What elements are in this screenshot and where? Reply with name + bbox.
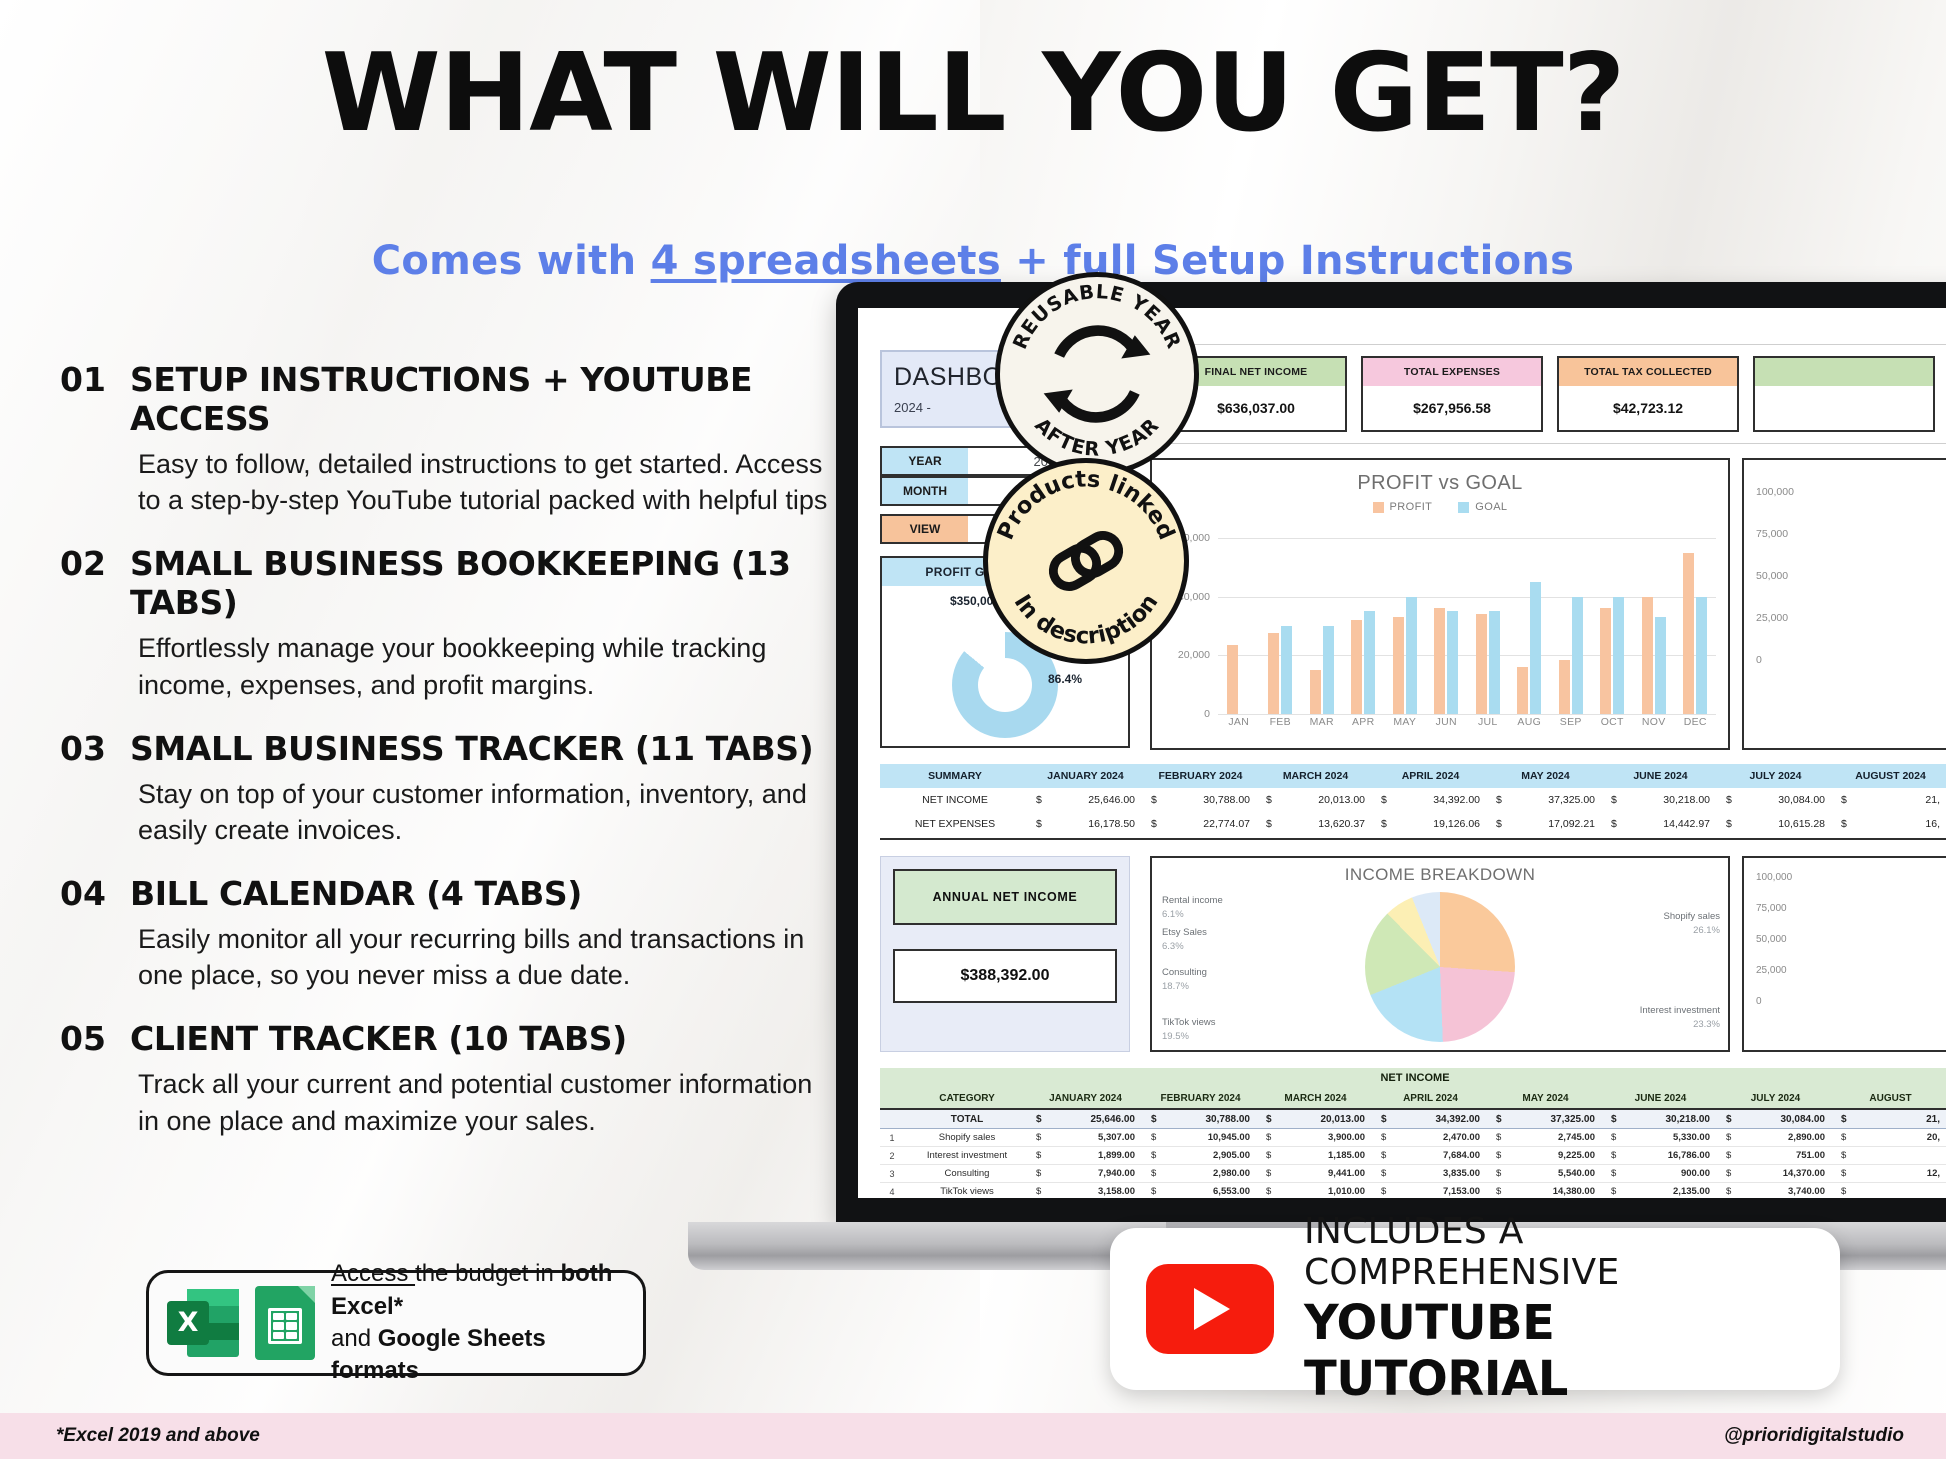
y-tick: 75,000 xyxy=(1756,528,1794,540)
chain-link-icon xyxy=(1048,530,1125,592)
formats-mid: the budget in xyxy=(415,1260,560,1287)
badge-reuse-top: REUSABLE YEAR xyxy=(1008,280,1186,352)
x-tick: FEB xyxy=(1260,716,1302,738)
y-axis-labels-secondary-2: 100,00075,00050,00025,0000 xyxy=(1756,872,1792,1027)
profit-vs-goal-chart: PROFIT vs GOAL PROFIT GOAL 020,00040,000… xyxy=(1150,458,1730,750)
products-linked-badge: Products linked In description xyxy=(983,458,1189,664)
cell: $13,620.37 xyxy=(1260,818,1375,830)
bar-goal xyxy=(1572,597,1583,714)
chart-gridlines xyxy=(1218,538,1716,714)
kpi-card-total-tax-collected: TOTAL TAX COLLECTED $42,723.12 xyxy=(1557,356,1739,432)
footer-band: *Excel 2019 and above @prioridigitalstud… xyxy=(0,1413,1946,1459)
col-header: APRIL 2024 xyxy=(1375,1093,1490,1104)
bar-series-container xyxy=(1218,538,1716,714)
table-row: 2 Interest investment $1,899.00 $2,905.0… xyxy=(880,1147,1946,1165)
feature-item-02: 02 SMALL BUSINESS BOOKKEEPING (13 TABS) … xyxy=(60,544,850,702)
page-title: WHAT WILL YOU GET? xyxy=(0,40,1946,148)
cell: $30,218.00 xyxy=(1605,794,1720,806)
pie-chart xyxy=(1365,892,1515,1042)
annual-net-income-panel: ANNUAL NET INCOME $388,392.00 xyxy=(880,856,1130,1052)
y-tick: 50,000 xyxy=(1756,570,1794,582)
pie-label-tiktok-views: TikTok views19.5% xyxy=(1162,1016,1312,1044)
y-tick: 0 xyxy=(1756,996,1792,1007)
y-tick: 100,000 xyxy=(1756,872,1792,883)
feature-number: 01 xyxy=(60,360,108,399)
income-breakdown-chart: INCOME BREAKDOWN Rental income6.1% Etsy … xyxy=(1150,856,1730,1052)
summary-col: MAY 2024 xyxy=(1490,770,1605,782)
cell: $14,442.97 xyxy=(1605,818,1720,830)
bar-goal xyxy=(1530,582,1541,714)
chart-title: PROFIT vs GOAL xyxy=(1152,472,1728,495)
youtube-play-icon xyxy=(1146,1264,1274,1354)
page-subtitle: Comes with 4 spreadsheets + full Setup I… xyxy=(0,238,1946,284)
reusable-year-after-year-badge: REUSABLE YEAR AFTER YEAR xyxy=(995,272,1199,476)
feature-number: 04 xyxy=(60,874,108,913)
cell: $16,178.50 xyxy=(1030,818,1145,830)
view-label: VIEW xyxy=(882,516,968,542)
feature-title: CLIENT TRACKER (10 TABS) xyxy=(130,1019,627,1058)
feature-body: Easy to follow, detailed instructions to… xyxy=(138,446,850,518)
summary-header-row: SUMMARY JANUARY 2024 FEBRUARY 2024 MARCH… xyxy=(880,764,1946,788)
cell: $25,646.00 xyxy=(1030,794,1145,806)
feature-body: Track all your current and potential cus… xyxy=(138,1066,850,1138)
x-tick: SEP xyxy=(1550,716,1592,738)
feature-line-2: income, expenses, and profit margins. xyxy=(138,667,850,703)
feature-item-04: 04 BILL CALENDAR (4 TABS) Easily monitor… xyxy=(60,874,850,993)
annual-net-income-value: $388,392.00 xyxy=(893,949,1117,1003)
col-header: JANUARY 2024 xyxy=(1030,1093,1145,1104)
col-header: JULY 2024 xyxy=(1720,1093,1835,1104)
bar-group xyxy=(1218,538,1260,714)
net-income-table: NET INCOME CATEGORY JANUARY 2024 FEBRUAR… xyxy=(880,1068,1946,1192)
svg-text:REUSABLE YEAR: REUSABLE YEAR xyxy=(1008,280,1186,352)
bar-profit xyxy=(1559,660,1570,714)
x-tick: MAY xyxy=(1384,716,1426,738)
feature-line-1: Stay on top of your customer information… xyxy=(138,776,850,812)
svg-text:Products linked: Products linked xyxy=(992,466,1179,543)
youtube-text: INCLUDES A COMPREHENSIVE YOUTUBE TUTORIA… xyxy=(1304,1211,1804,1407)
bar-profit xyxy=(1310,670,1321,714)
net-income-band: NET INCOME xyxy=(880,1068,1946,1088)
chart-title: INCOME BREAKDOWN xyxy=(1152,865,1728,885)
feature-line-1: Track all your current and potential cus… xyxy=(138,1066,850,1102)
x-tick: JUN xyxy=(1426,716,1468,738)
cell: $37,325.00 xyxy=(1490,794,1605,806)
bar-goal xyxy=(1406,597,1417,714)
kpi-label: TOTAL TAX COLLECTED xyxy=(1559,358,1737,386)
feature-item-05: 05 CLIENT TRACKER (10 TABS) Track all yo… xyxy=(60,1019,850,1138)
youtube-line-1: INCLUDES A COMPREHENSIVE xyxy=(1304,1211,1804,1293)
kpi-label: TOTAL EXPENSES xyxy=(1363,358,1541,386)
feature-line-1: Easy to follow, detailed instructions to… xyxy=(138,446,850,482)
pie-label-rental-income: Rental income6.1% xyxy=(1162,894,1312,922)
secondary-chart-cropped-2: 100,00075,00050,00025,0000 xyxy=(1742,856,1946,1052)
x-tick: AUG xyxy=(1509,716,1551,738)
feature-line-2: easily create invoices. xyxy=(138,812,850,848)
feature-heading: 04 BILL CALENDAR (4 TABS) xyxy=(60,874,850,913)
bar-profit xyxy=(1434,608,1445,714)
y-tick: 0 xyxy=(1204,708,1210,720)
kpi-card-partial xyxy=(1753,356,1935,432)
google-sheets-icon xyxy=(255,1286,315,1360)
bar-goal xyxy=(1364,611,1375,714)
net-income-header-row: CATEGORY JANUARY 2024 FEBRUARY 2024 MARC… xyxy=(880,1088,1946,1110)
bar-group xyxy=(1301,538,1343,714)
bar-goal xyxy=(1323,626,1334,714)
feature-item-01: 01 SETUP INSTRUCTIONS + YOUTUBE ACCESS E… xyxy=(60,360,850,518)
poster-background: WHAT WILL YOU GET? Comes with 4 spreadsh… xyxy=(0,0,1946,1459)
bar-profit xyxy=(1517,667,1528,714)
bar-goal xyxy=(1613,597,1624,714)
footer-note: *Excel 2019 and above xyxy=(56,1425,260,1447)
cell: $17,092.21 xyxy=(1490,818,1605,830)
year-label: YEAR xyxy=(882,448,968,474)
chart-legend: PROFIT GOAL xyxy=(1152,501,1728,513)
x-tick: APR xyxy=(1343,716,1385,738)
x-tick: MAR xyxy=(1301,716,1343,738)
legend-goal: GOAL xyxy=(1458,501,1507,513)
table-row: NET EXPENSES $16,178.50 $22,774.07 $13,6… xyxy=(880,812,1946,836)
summary-table: SUMMARY JANUARY 2024 FEBRUARY 2024 MARCH… xyxy=(880,764,1946,840)
y-tick: 0 xyxy=(1756,654,1794,666)
cell: $34,392.00 xyxy=(1375,794,1490,806)
feature-body: Easily monitor all your recurring bills … xyxy=(138,921,850,993)
secondary-chart-cropped: 100,00075,00050,00025,0000 xyxy=(1742,458,1946,750)
net-income-total-row: TOTAL $25,646.00 $30,788.00 $20,013.00 $… xyxy=(880,1110,1946,1129)
summary-col: JANUARY 2024 xyxy=(1030,770,1145,782)
bar-goal xyxy=(1281,626,1292,714)
x-tick: JAN xyxy=(1218,716,1260,738)
bar-goal xyxy=(1655,617,1666,714)
feature-heading: 02 SMALL BUSINESS BOOKKEEPING (13 TABS) xyxy=(60,544,850,622)
subtitle-underline: 4 spreadsheets xyxy=(651,238,1001,284)
cell: $30,084.00 xyxy=(1720,794,1835,806)
bar-goal xyxy=(1447,611,1458,714)
refresh-icon xyxy=(1059,331,1135,418)
footer-handle: @prioridigitalstudio xyxy=(1724,1425,1904,1447)
month-label: MONTH xyxy=(882,478,968,504)
bar-group xyxy=(1384,538,1426,714)
kpi-value: $267,956.58 xyxy=(1363,386,1541,430)
badge-link-svg: Products linked In description xyxy=(988,463,1184,659)
row-label: NET EXPENSES xyxy=(880,818,1030,830)
feature-title: SETUP INSTRUCTIONS + YOUTUBE ACCESS xyxy=(130,360,850,438)
feature-heading: 05 CLIENT TRACKER (10 TABS) xyxy=(60,1019,850,1058)
table-row: 4 TikTok views $3,158.00 $6,553.00 $1,01… xyxy=(880,1183,1946,1198)
summary-col: JUNE 2024 xyxy=(1605,770,1720,782)
gridline xyxy=(1218,714,1716,715)
feature-number: 02 xyxy=(60,544,108,583)
cell: $20,013.00 xyxy=(1260,794,1375,806)
bar-profit xyxy=(1351,620,1362,714)
bar-profit xyxy=(1476,614,1487,714)
bar-profit xyxy=(1683,553,1694,714)
badge-link-top: Products linked xyxy=(992,466,1179,543)
youtube-tutorial-pill: INCLUDES A COMPREHENSIVE YOUTUBE TUTORIA… xyxy=(1110,1228,1840,1390)
feature-title: SMALL BUSINESS TRACKER (11 TABS) xyxy=(130,729,813,768)
table-row: 1 Shopify sales $5,307.00 $10,945.00 $3,… xyxy=(880,1129,1946,1147)
col-header: AUGUST xyxy=(1835,1093,1946,1104)
subtitle-pre: Comes with xyxy=(372,238,651,284)
feature-number: 03 xyxy=(60,729,108,768)
bar-profit xyxy=(1227,645,1238,714)
bar-group xyxy=(1550,538,1592,714)
feature-line-2: in one place and maximize your sales. xyxy=(138,1103,850,1139)
feature-body: Stay on top of your customer information… xyxy=(138,776,850,848)
feature-line-1: Effortlessly manage your bookkeeping whi… xyxy=(138,630,850,666)
table-row: NET INCOME $25,646.00 $30,788.00 $20,013… xyxy=(880,788,1946,812)
x-axis-labels: JANFEBMARAPRMAYJUNJULAUGSEPOCTNOVDEC xyxy=(1218,716,1716,738)
cell: $16, xyxy=(1835,818,1946,830)
summary-col: JULY 2024 xyxy=(1720,770,1835,782)
cell: $22,774.07 xyxy=(1145,818,1260,830)
cell: $21, xyxy=(1835,794,1946,806)
summary-header-label: SUMMARY xyxy=(880,770,1030,782)
pie-label-shopify-sales: Shopify sales26.1% xyxy=(1590,910,1720,938)
bar-group xyxy=(1675,538,1717,714)
x-tick: OCT xyxy=(1592,716,1634,738)
table-row: 3 Consulting $7,940.00 $2,980.00 $9,441.… xyxy=(880,1165,1946,1183)
cell: $19,126.06 xyxy=(1375,818,1490,830)
chart-plot-area: 020,00040,00060,000 JANFEBMARAPRMAYJUNJU… xyxy=(1160,538,1720,740)
bar-goal xyxy=(1696,597,1707,714)
bar-profit xyxy=(1393,617,1404,714)
feature-heading: 03 SMALL BUSINESS TRACKER (11 TABS) xyxy=(60,729,850,768)
pie-label-interest-investment: Interest investment23.3% xyxy=(1580,1004,1720,1032)
y-tick: 75,000 xyxy=(1756,903,1792,914)
annual-net-income-label: ANNUAL NET INCOME xyxy=(893,869,1117,925)
cell: $10,615.28 xyxy=(1720,818,1835,830)
bar-group xyxy=(1633,538,1675,714)
col-header: FEBRUARY 2024 xyxy=(1145,1093,1260,1104)
svg-text:In description: In description xyxy=(1009,590,1164,650)
summary-col: MARCH 2024 xyxy=(1260,770,1375,782)
youtube-line-2: YOUTUBE TUTORIAL xyxy=(1304,1295,1804,1407)
x-tick: JUL xyxy=(1467,716,1509,738)
bar-profit xyxy=(1600,608,1611,714)
feature-number: 05 xyxy=(60,1019,108,1058)
bar-goal xyxy=(1489,611,1500,714)
feature-line-2: one place, so you never miss a due date. xyxy=(138,957,850,993)
kpi-value: $42,723.12 xyxy=(1559,386,1737,430)
y-tick: 25,000 xyxy=(1756,612,1794,624)
category-header: CATEGORY xyxy=(904,1093,1030,1104)
y-tick: 25,000 xyxy=(1756,965,1792,976)
feature-line-1: Easily monitor all your recurring bills … xyxy=(138,921,850,957)
formats-box: X Access the budget in both Excel* and G… xyxy=(146,1270,646,1376)
kpi-card-total-expenses: TOTAL EXPENSES $267,956.58 xyxy=(1361,356,1543,432)
legend-profit: PROFIT xyxy=(1373,501,1433,513)
formats-line2-pre: and xyxy=(331,1325,378,1352)
y-axis-labels-secondary: 100,00075,00050,00025,0000 xyxy=(1756,486,1794,696)
summary-col: AUGUST 2024 xyxy=(1835,770,1946,782)
feature-body: Effortlessly manage your bookkeeping whi… xyxy=(138,630,850,702)
badge-link-bottom: In description xyxy=(1009,590,1164,650)
summary-col: APRIL 2024 xyxy=(1375,770,1490,782)
feature-heading: 01 SETUP INSTRUCTIONS + YOUTUBE ACCESS xyxy=(60,360,850,438)
x-tick: DEC xyxy=(1675,716,1717,738)
feature-line-2: to a step-by-step YouTube tutorial packe… xyxy=(138,482,850,518)
bar-profit xyxy=(1268,633,1279,714)
pie-label-consulting: Consulting18.7% xyxy=(1162,966,1312,994)
bar-group xyxy=(1260,538,1302,714)
col-header: MARCH 2024 xyxy=(1260,1093,1375,1104)
feature-item-03: 03 SMALL BUSINESS TRACKER (11 TABS) Stay… xyxy=(60,729,850,848)
kpi-card-row: FINAL NET INCOME $636,037.00 TOTAL EXPEN… xyxy=(1150,344,1946,444)
y-tick: 100,000 xyxy=(1756,486,1794,498)
badge-reuse-svg: REUSABLE YEAR AFTER YEAR xyxy=(1000,277,1194,471)
col-header: JUNE 2024 xyxy=(1605,1093,1720,1104)
formats-link-word[interactable]: Access xyxy=(331,1260,415,1287)
excel-icon: X xyxy=(167,1287,239,1359)
pie-label-etsy-sales: Etsy Sales6.3% xyxy=(1162,926,1312,954)
x-tick: NOV xyxy=(1633,716,1675,738)
bar-group xyxy=(1343,538,1385,714)
bar-group xyxy=(1592,538,1634,714)
summary-col: FEBRUARY 2024 xyxy=(1145,770,1260,782)
y-tick: 50,000 xyxy=(1756,934,1792,945)
feature-list: 01 SETUP INSTRUCTIONS + YOUTUBE ACCESS E… xyxy=(60,360,850,1165)
row-label: NET INCOME xyxy=(880,794,1030,806)
feature-title: SMALL BUSINESS BOOKKEEPING (13 TABS) xyxy=(130,544,850,622)
bar-group xyxy=(1426,538,1468,714)
formats-text: Access the budget in both Excel* and Goo… xyxy=(331,1258,625,1388)
bar-group xyxy=(1509,538,1551,714)
cell: $30,788.00 xyxy=(1145,794,1260,806)
feature-title: BILL CALENDAR (4 TABS) xyxy=(130,874,582,913)
total-label: TOTAL xyxy=(904,1114,1030,1125)
goal-percent: 86.4% xyxy=(1048,672,1082,686)
col-header: MAY 2024 xyxy=(1490,1093,1605,1104)
excel-letter: X xyxy=(167,1301,209,1345)
bar-group xyxy=(1467,538,1509,714)
bar-profit xyxy=(1642,597,1653,714)
